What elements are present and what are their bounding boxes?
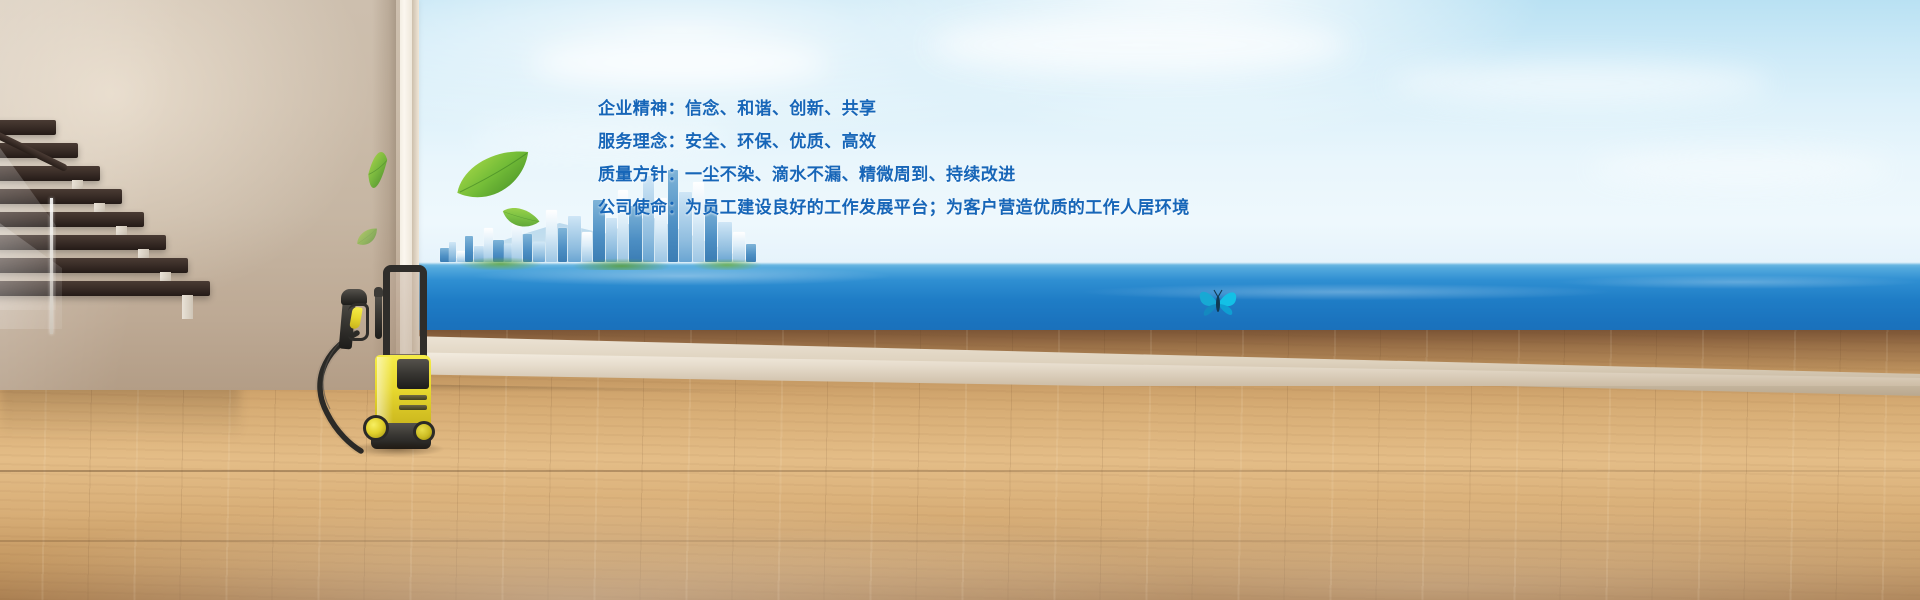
cloud-wisp [930,16,1350,74]
spray-lance [375,293,382,339]
pressure-washer [305,255,430,460]
washer-ground-shadow [349,441,445,457]
culture-text-block: 企业精神：信念、和谐、创新、共享 服务理念：安全、环保、优质、高效 质量方针：一… [598,92,1298,224]
cloud-wisp [1590,150,1890,186]
butterfly-antennae [1214,290,1222,297]
nozzle-tip [374,287,383,297]
culture-line-quality: 质量方针：一尘不染、滴水不漏、精微周到、持续改进 [598,158,1298,191]
culture-line-mission: 公司使命：为员工建设良好的工作发展平台；为客户营造优质的工作人居环境 [598,191,1298,224]
cloud-wisp [1390,62,1770,104]
washer-handle-inner-shade [390,272,420,356]
spray-gun-trigger-guard [348,303,369,341]
culture-line-service: 服务理念：安全、环保、优质、高效 [598,125,1298,158]
washer-vent [399,395,427,400]
floating-staircase [0,120,210,390]
cloud-wisp [530,40,830,86]
hero-banner: 企业精神：信念、和谐、创新、共享 服务理念：安全、环保、优质、高效 质量方针：一… [0,0,1920,600]
butterfly-body [1216,296,1220,312]
washer-body-panel [397,359,429,389]
stair-step [0,120,56,135]
washer-wheel-left [363,415,389,441]
shoreline-greenery [410,248,1920,270]
washer-vent [399,405,427,410]
culture-line-spirit: 企业精神：信念、和谐、创新、共享 [598,92,1298,125]
butterfly [1196,282,1240,326]
washer-wheel-right [413,421,435,443]
stair-riser [182,295,193,319]
ocean-shimmer [410,266,1920,312]
balustrade-post [50,198,53,334]
